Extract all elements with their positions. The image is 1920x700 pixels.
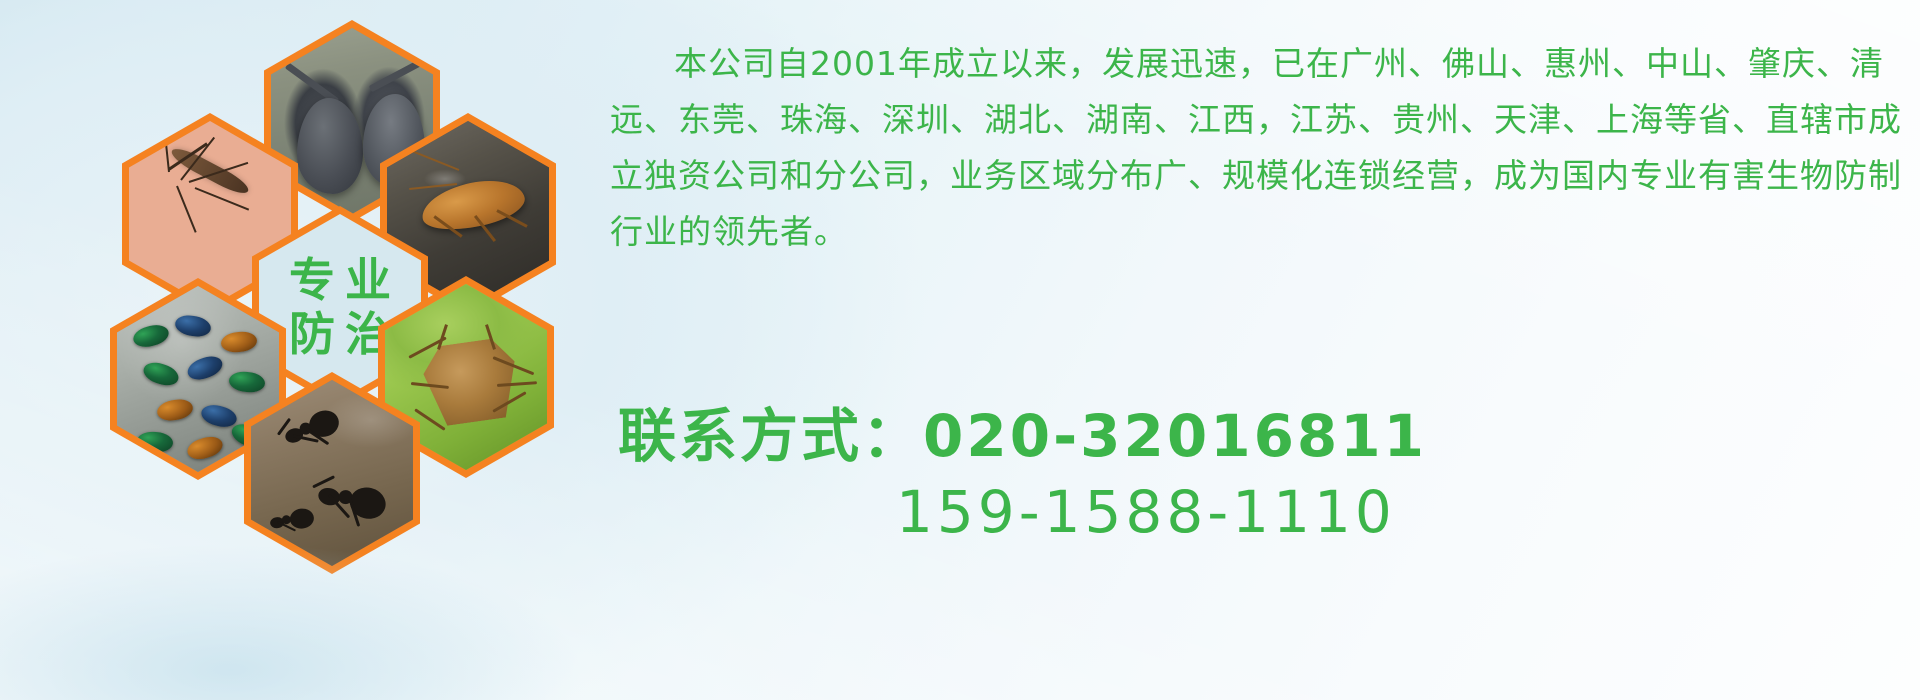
slogan-line-1: 专业 bbox=[279, 256, 401, 304]
honeycomb-gallery: 专业 防治 bbox=[0, 0, 620, 580]
contact-line-primary[interactable]: 联系方式：020-32016811 bbox=[618, 398, 1918, 474]
photo-ants bbox=[251, 380, 413, 566]
about-paragraph: 本公司自2001年成立以来，发展迅速，已在广州、佛山、惠州、中山、肇庆、清远、东… bbox=[610, 36, 1910, 260]
pest-control-banner: 专业 防治 bbox=[0, 0, 1920, 700]
contact-block: 联系方式：020-32016811 159-1588-1110 bbox=[618, 398, 1918, 550]
contact-line-secondary[interactable]: 159-1588-1110 bbox=[618, 474, 1918, 550]
about-copy: 本公司自2001年成立以来，发展迅速，已在广州、佛山、惠州、中山、肇庆、清远、东… bbox=[610, 36, 1910, 260]
